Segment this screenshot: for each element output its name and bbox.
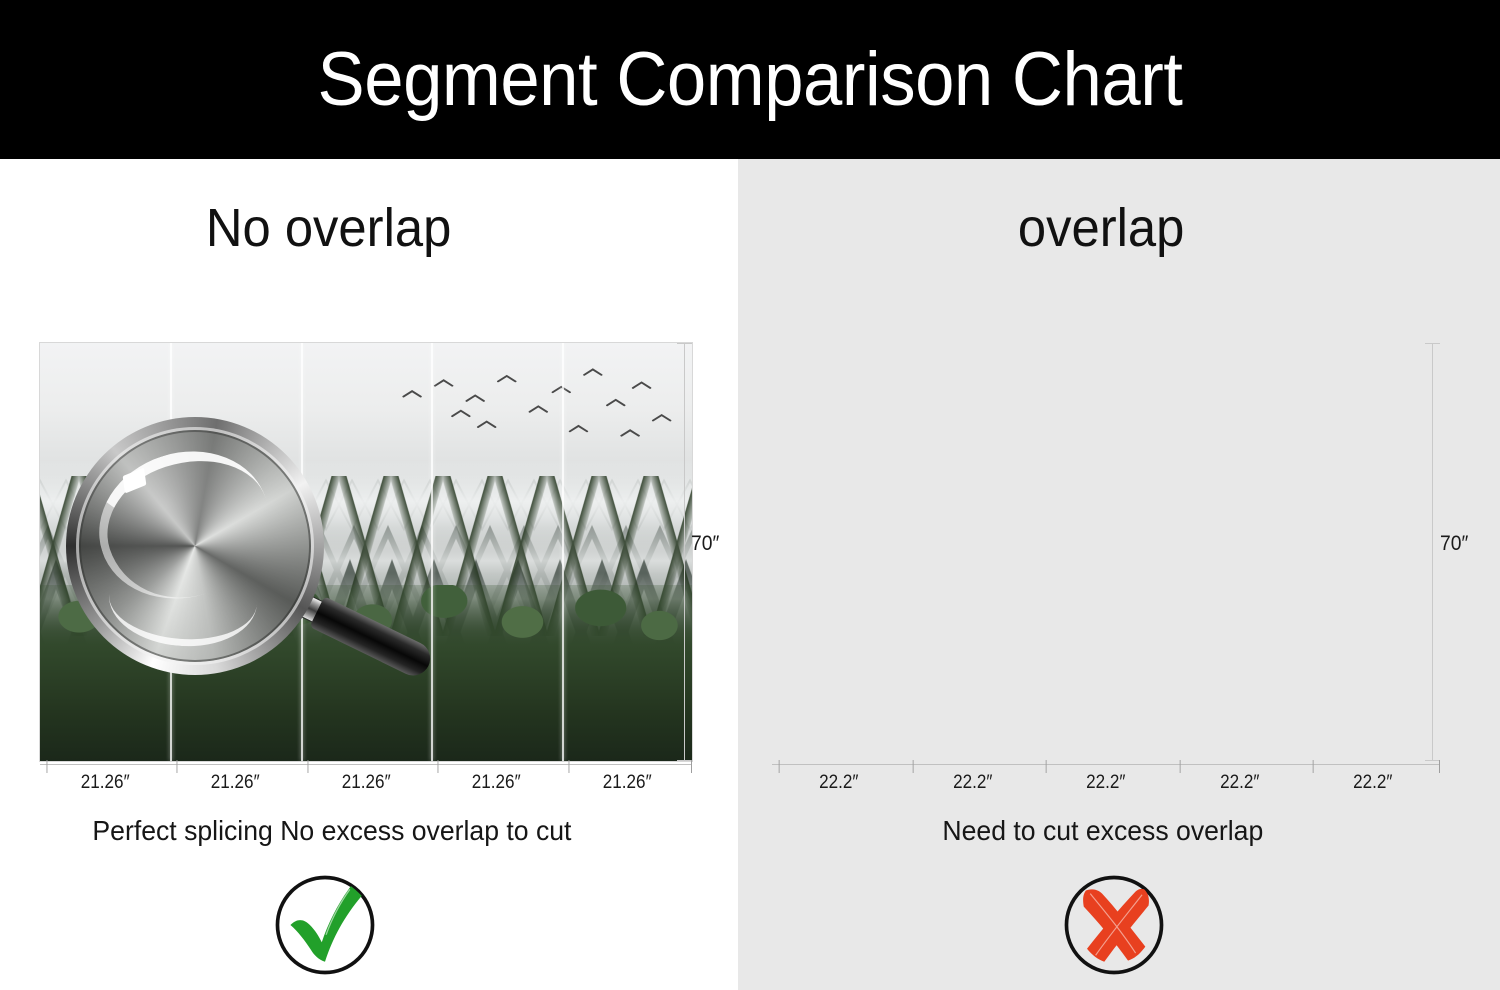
caption-overlap: Need to cut excess overlap [757, 817, 1481, 845]
check-icon [271, 871, 379, 979]
panel-heading-no-overlap: No overlap [22, 201, 716, 255]
dimension-end-tick [691, 760, 692, 773]
segment-seams-no-overlap [40, 343, 692, 761]
forest-mural-no-overlap [40, 343, 692, 761]
segment-label: 21.26″ [307, 764, 424, 798]
panel-overlap: overlap [738, 159, 1500, 990]
seam-divider [431, 343, 433, 761]
seam-divider [562, 343, 564, 761]
segment-comparison-chart: Segment Comparison Chart No overlap [0, 0, 1500, 990]
segment-label: 21.26″ [568, 764, 685, 798]
height-label-no-overlap: 70″ [691, 532, 719, 556]
height-label-overlap: 70″ [1440, 532, 1468, 556]
segment-label: 22.2″ [912, 764, 1032, 798]
height-dimension-line-overlap [1432, 343, 1433, 761]
artwork-stage-no-overlap [40, 343, 692, 761]
segment-dimensions-overlap: 22.2″ 22.2″ 22.2″ 22.2″ 22.2″ [772, 764, 1440, 798]
seam-divider [301, 343, 303, 761]
segment-label: 21.26″ [177, 764, 294, 798]
comparison-panels: No overlap [0, 159, 1500, 990]
panel-no-overlap: No overlap [0, 159, 738, 990]
cross-icon [1060, 871, 1168, 979]
page-title: Segment Comparison Chart [318, 42, 1183, 118]
caption-no-overlap: Perfect splicing No excess overlap to cu… [18, 817, 719, 845]
segment-dimensions-no-overlap: 21.26″ 21.26″ 21.26″ 21.26″ 21.26″ [40, 764, 692, 798]
segment-label: 21.26″ [47, 764, 164, 798]
panel-heading-overlap: overlap [761, 201, 1477, 255]
segment-label: 22.2″ [1179, 764, 1299, 798]
height-dimension-line-no-overlap [684, 343, 685, 761]
dimension-end-tick [1439, 760, 1440, 773]
segment-label: 22.2″ [779, 764, 899, 798]
segment-label: 22.2″ [1313, 764, 1433, 798]
title-bar: Segment Comparison Chart [0, 0, 1500, 159]
segment-label: 22.2″ [1046, 764, 1166, 798]
segment-label: 21.26″ [438, 764, 555, 798]
seam-divider [170, 343, 172, 761]
